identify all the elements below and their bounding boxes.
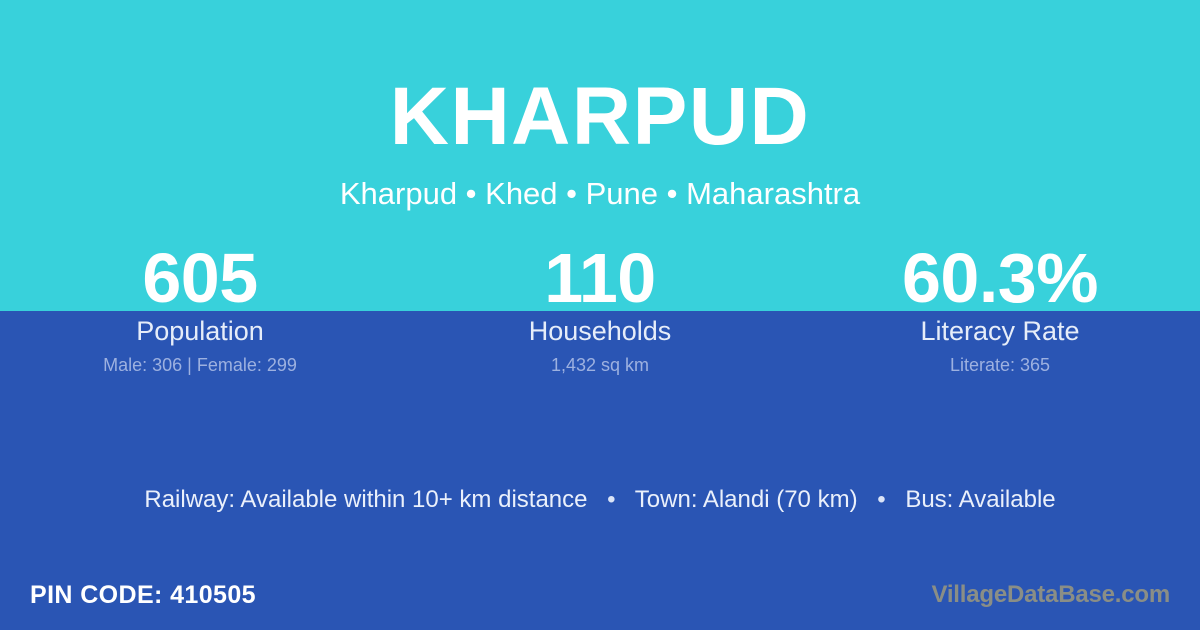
amenities-line: Railway: Available within 10+ km distanc… <box>0 484 1200 516</box>
amenity-separator-2: • <box>864 484 898 516</box>
stat-population-detail: Male: 306 | Female: 299 <box>0 355 400 375</box>
card-footer: PIN CODE: 410505 VillageDataBase.com <box>0 560 1200 630</box>
stat-households-label: Households <box>400 316 800 346</box>
amenity-bus: Bus: Available <box>905 486 1055 513</box>
stat-households-detail: 1,432 sq km <box>400 355 800 375</box>
stat-households-value: 110 <box>400 244 800 312</box>
amenity-separator-1: • <box>594 484 628 516</box>
stat-households: 110 Households 1,432 sq km <box>400 244 800 375</box>
village-info-card: KHARPUD Kharpud • Khed • Pune • Maharash… <box>0 0 1200 630</box>
pin-code: PIN CODE: 410505 <box>30 581 256 610</box>
stat-literacy-rate-detail: Literate: 365 <box>800 355 1200 375</box>
stats-row: 605 Population Male: 306 | Female: 299 1… <box>0 244 1200 375</box>
stat-literacy-rate-label: Literacy Rate <box>800 316 1200 346</box>
stat-population-label: Population <box>0 316 400 346</box>
stat-literacy-rate: 60.3% Literacy Rate Literate: 365 <box>800 244 1200 375</box>
page-title: KHARPUD <box>0 0 1200 158</box>
stat-population-value: 605 <box>0 244 400 312</box>
site-brand-logo: VillageDataBase.com <box>931 581 1170 609</box>
amenity-railway: Railway: Available within 10+ km distanc… <box>144 486 587 513</box>
breadcrumb: Kharpud • Khed • Pune • Maharashtra <box>0 158 1200 209</box>
stat-literacy-rate-value: 60.3% <box>800 244 1200 312</box>
card-header: KHARPUD Kharpud • Khed • Pune • Maharash… <box>0 0 1200 209</box>
amenity-town: Town: Alandi (70 km) <box>635 486 858 513</box>
stat-population: 605 Population Male: 306 | Female: 299 <box>0 244 400 375</box>
